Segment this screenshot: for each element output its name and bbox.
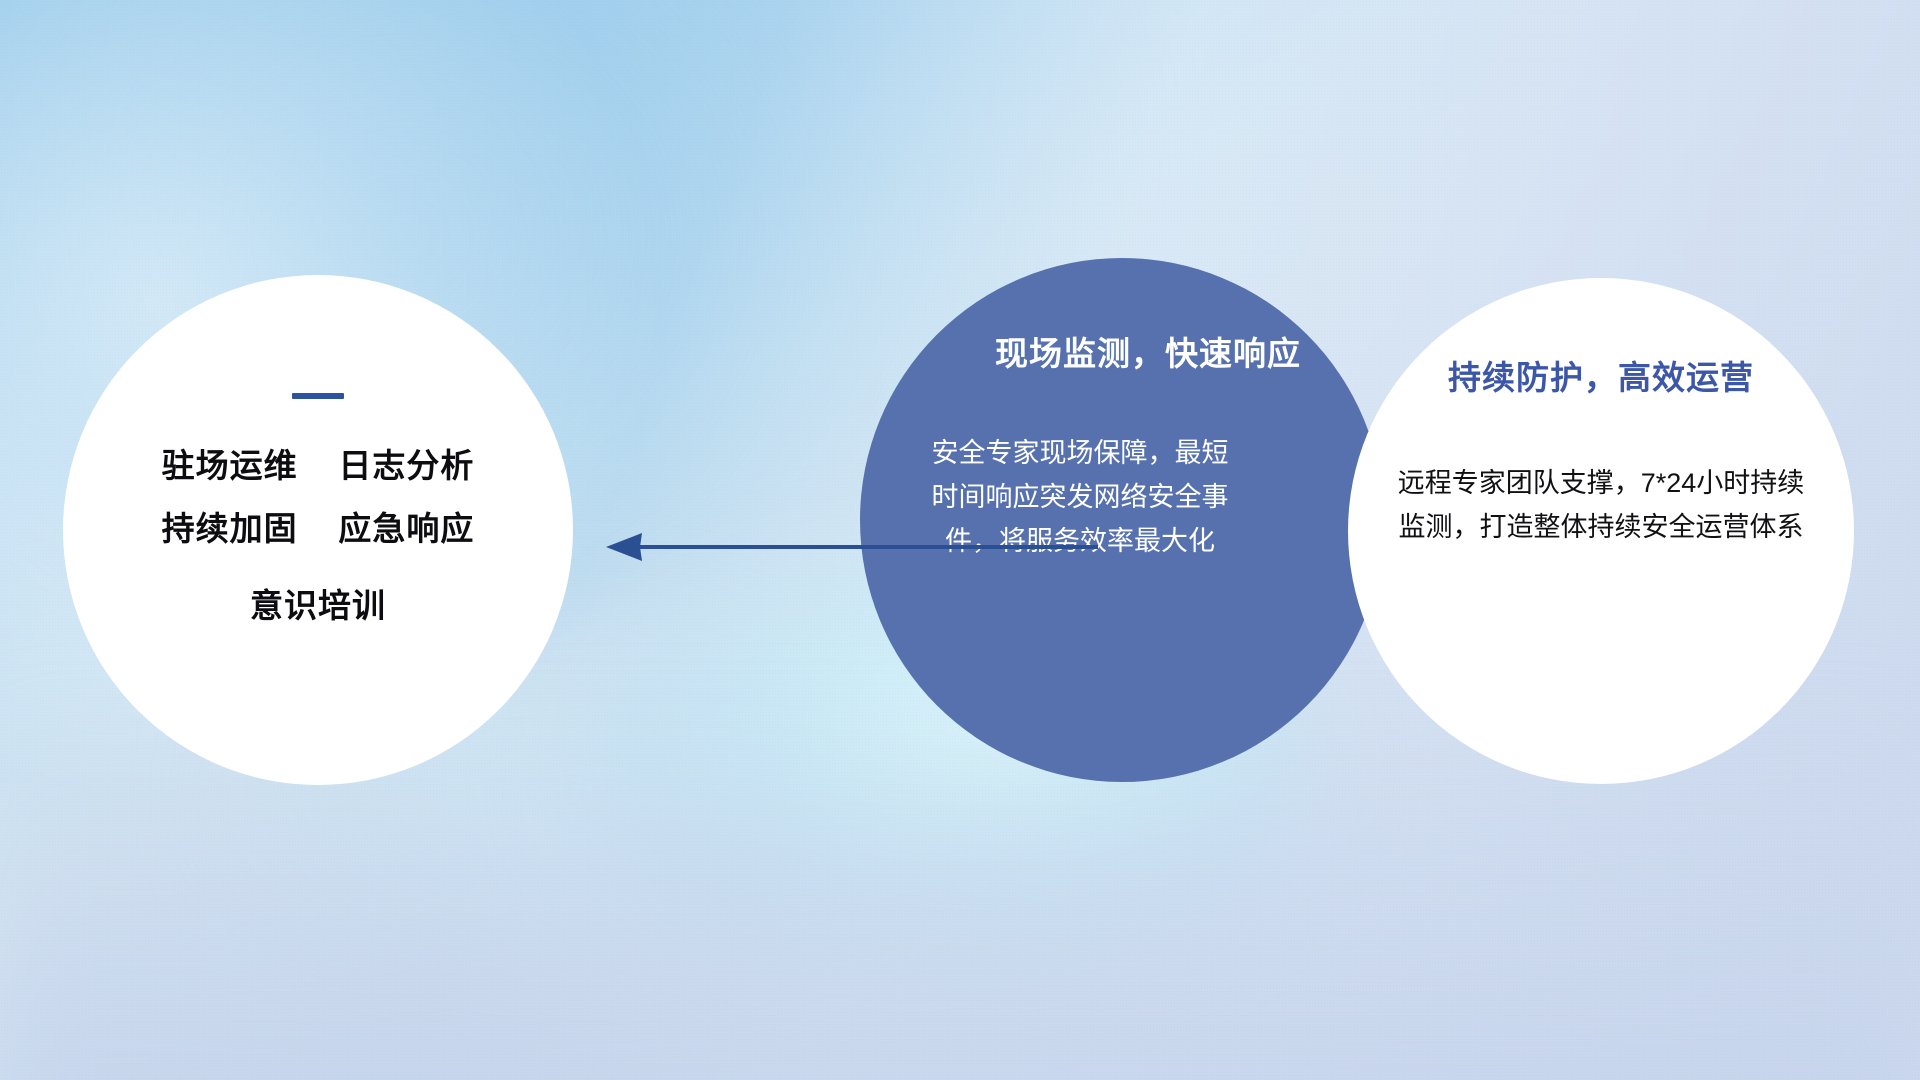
slide-canvas: 现场监测，快速响应 安全专家现场保障，最短时间响应突发网络安全事件，将服务效率最… bbox=[0, 0, 1920, 1080]
right-circle-content: 持续防护，高效运营 远程专家团队支撑，7*24小时持续监测，打造整体持续安全运营… bbox=[1348, 278, 1854, 784]
flow-arrow-left-icon bbox=[600, 516, 1100, 578]
flow-arrow-svg bbox=[600, 516, 1100, 578]
right-circle-body: 远程专家团队支撑，7*24小时持续监测，打造整体持续安全运营体系 bbox=[1378, 462, 1824, 549]
left-circle-line-3: 意识培训 bbox=[250, 589, 386, 622]
center-circle-title: 现场监测，快速响应 bbox=[948, 336, 1348, 372]
left-circle-node[interactable]: 驻场运维 日志分析 持续加固 应急响应 意识培训 bbox=[63, 275, 573, 785]
left-circle-content: 驻场运维 日志分析 持续加固 应急响应 意识培训 bbox=[63, 275, 573, 785]
right-circle-node[interactable]: 持续防护，高效运营 远程专家团队支撑，7*24小时持续监测，打造整体持续安全运营… bbox=[1348, 278, 1854, 784]
divider-dash-icon bbox=[292, 393, 344, 399]
right-circle-title: 持续防护，高效运营 bbox=[1378, 360, 1824, 396]
left-circle-line-2: 持续加固 应急响应 bbox=[162, 512, 475, 545]
left-circle-line-1: 驻场运维 日志分析 bbox=[162, 449, 475, 482]
